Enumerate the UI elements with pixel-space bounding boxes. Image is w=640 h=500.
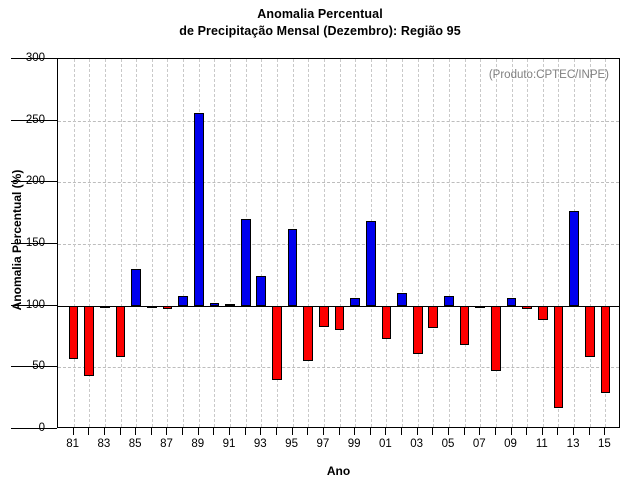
bar-02 <box>397 293 407 305</box>
x-axis-tick-label: 11 <box>536 438 548 450</box>
x-axis-tick <box>245 428 246 435</box>
y-axis-tick-label: 300 <box>26 52 45 64</box>
y-axis-tick-label: 50 <box>32 360 45 372</box>
x-axis-tick <box>323 428 324 435</box>
x-axis-tick <box>182 428 183 435</box>
x-axis-tick-label: 85 <box>129 438 142 450</box>
x-axis-tick <box>417 428 418 435</box>
x-axis-tick <box>88 428 89 435</box>
x-axis-tick <box>73 428 74 435</box>
bar-11 <box>538 306 548 321</box>
bar-01 <box>382 306 392 339</box>
x-axis-tick <box>292 428 293 435</box>
x-axis-label: Ano <box>57 464 620 478</box>
x-axis-tick-label: 97 <box>316 438 329 450</box>
x-axis-tick-label: 09 <box>504 438 517 450</box>
x-axis-tick <box>229 428 230 435</box>
bar-04 <box>428 306 438 328</box>
bar-99 <box>350 298 360 305</box>
x-axis-tick <box>542 428 543 435</box>
y-axis-label: Anomalia Percentual (%) <box>10 90 24 390</box>
bar-14 <box>585 306 595 358</box>
x-axis-tick <box>151 428 152 435</box>
x-axis-tick-label: 91 <box>223 438 236 450</box>
y-axis-tick <box>11 428 57 429</box>
x-axis-tick-label: 93 <box>254 438 267 450</box>
x-axis-tick-label: 03 <box>410 438 423 450</box>
x-axis-tick <box>479 428 480 435</box>
x-axis-tick-label: 83 <box>98 438 111 450</box>
y-axis-tick-label: 0 <box>39 422 45 434</box>
x-axis-tick-label: 13 <box>567 438 580 450</box>
x-axis: 818385878991939597990103050709111315 Ano <box>57 428 620 488</box>
bar-82 <box>84 306 94 376</box>
x-axis-tick-label: 89 <box>191 438 204 450</box>
bar-96 <box>303 306 313 362</box>
x-axis-tick <box>401 428 402 435</box>
x-axis-tick <box>448 428 449 435</box>
bar-89 <box>194 113 204 305</box>
x-axis-tick <box>464 428 465 435</box>
x-axis-tick <box>339 428 340 435</box>
bar-97 <box>319 306 329 327</box>
x-axis-tick <box>495 428 496 435</box>
bar-09 <box>507 298 517 305</box>
x-axis-tick-label: 95 <box>285 438 298 450</box>
x-axis-tick <box>276 428 277 435</box>
x-axis-tick-label: 99 <box>348 438 361 450</box>
x-axis-tick-label: 81 <box>66 438 79 450</box>
x-axis-tick <box>511 428 512 435</box>
x-axis-tick <box>104 428 105 435</box>
bar-06 <box>460 306 470 345</box>
y-axis-tick-label: 100 <box>26 299 45 311</box>
x-axis-tick <box>385 428 386 435</box>
x-axis-tick <box>354 428 355 435</box>
chart-title-line-2: de Precipitação Mensal (Dezembro): Regiã… <box>0 23 640 40</box>
x-axis-tick <box>557 428 558 435</box>
bar-92 <box>241 219 251 305</box>
x-axis-tick-label: 87 <box>160 438 173 450</box>
bar-13 <box>569 211 579 306</box>
x-axis-tick-label: 07 <box>473 438 486 450</box>
chart-figure: Anomalia Percentual de Precipitação Mens… <box>0 0 640 500</box>
x-axis-tick <box>213 428 214 435</box>
y-axis-tick-label: 200 <box>26 175 45 187</box>
bar-88 <box>178 296 188 306</box>
bar-95 <box>288 229 298 305</box>
x-axis-tick <box>589 428 590 435</box>
bar-15 <box>601 306 611 394</box>
bar-12 <box>554 306 564 408</box>
x-axis-tick-label: 05 <box>442 438 455 450</box>
bar-00 <box>366 221 376 306</box>
bar-81 <box>69 306 79 359</box>
chart-title-line-1: Anomalia Percentual <box>0 6 640 23</box>
y-axis: Anomalia Percentual (%) 0501001502002503… <box>0 58 57 428</box>
bar-93 <box>256 276 266 306</box>
chart-title: Anomalia Percentual de Precipitação Mens… <box>0 6 640 40</box>
x-axis-tick <box>604 428 605 435</box>
x-axis-tick <box>307 428 308 435</box>
x-axis-tick <box>120 428 121 435</box>
x-axis-tick <box>166 428 167 435</box>
x-axis-tick <box>432 428 433 435</box>
x-axis-tick-label: 01 <box>379 438 392 450</box>
x-axis-tick <box>260 428 261 435</box>
plot-area: (Produto:CPTEC/INPE) <box>57 58 620 428</box>
x-axis-tick <box>370 428 371 435</box>
baseline-100 <box>58 306 619 307</box>
bar-series <box>58 59 619 427</box>
x-axis-tick <box>135 428 136 435</box>
x-axis-tick <box>526 428 527 435</box>
x-axis-tick <box>198 428 199 435</box>
x-axis-tick <box>573 428 574 435</box>
bar-08 <box>491 306 501 371</box>
bar-85 <box>131 269 141 306</box>
bar-98 <box>335 306 345 331</box>
source-annotation: (Produto:CPTEC/INPE) <box>489 69 609 81</box>
y-axis-tick-label: 250 <box>26 114 45 126</box>
bar-03 <box>413 306 423 354</box>
bar-84 <box>116 306 126 358</box>
bar-05 <box>444 296 454 306</box>
y-axis-tick-label: 150 <box>26 237 45 249</box>
x-axis-tick-label: 15 <box>598 438 611 450</box>
bar-94 <box>272 306 282 380</box>
